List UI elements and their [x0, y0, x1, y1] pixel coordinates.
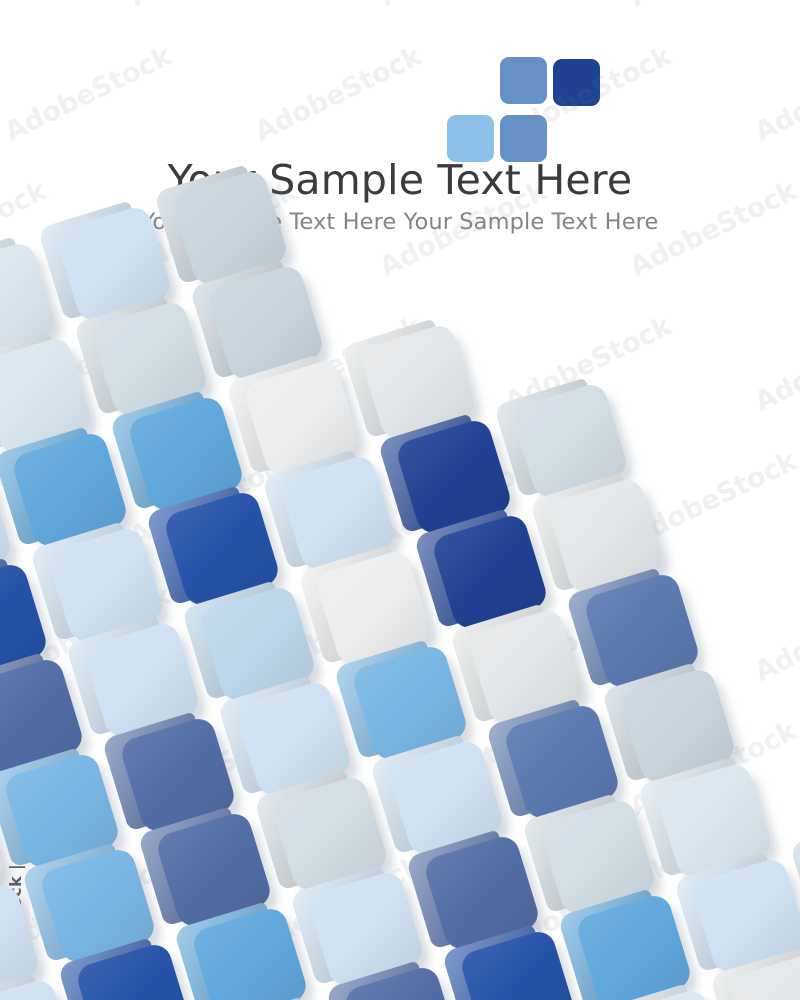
page-title: Your Sample Text Here [0, 157, 800, 203]
four-square-logo [447, 57, 597, 167]
logo-square-bottom-left [447, 115, 494, 162]
poster-canvas: Your Sample Text Here Your Sample Text H… [0, 0, 800, 1000]
logo-square-top-left [500, 57, 547, 104]
tile-mosaic [0, 0, 800, 1000]
logo-square-bottom-right [500, 115, 547, 162]
mosaic-tile [190, 905, 310, 1000]
logo-square-top-right [553, 59, 600, 106]
mosaic-tile [574, 892, 694, 1000]
